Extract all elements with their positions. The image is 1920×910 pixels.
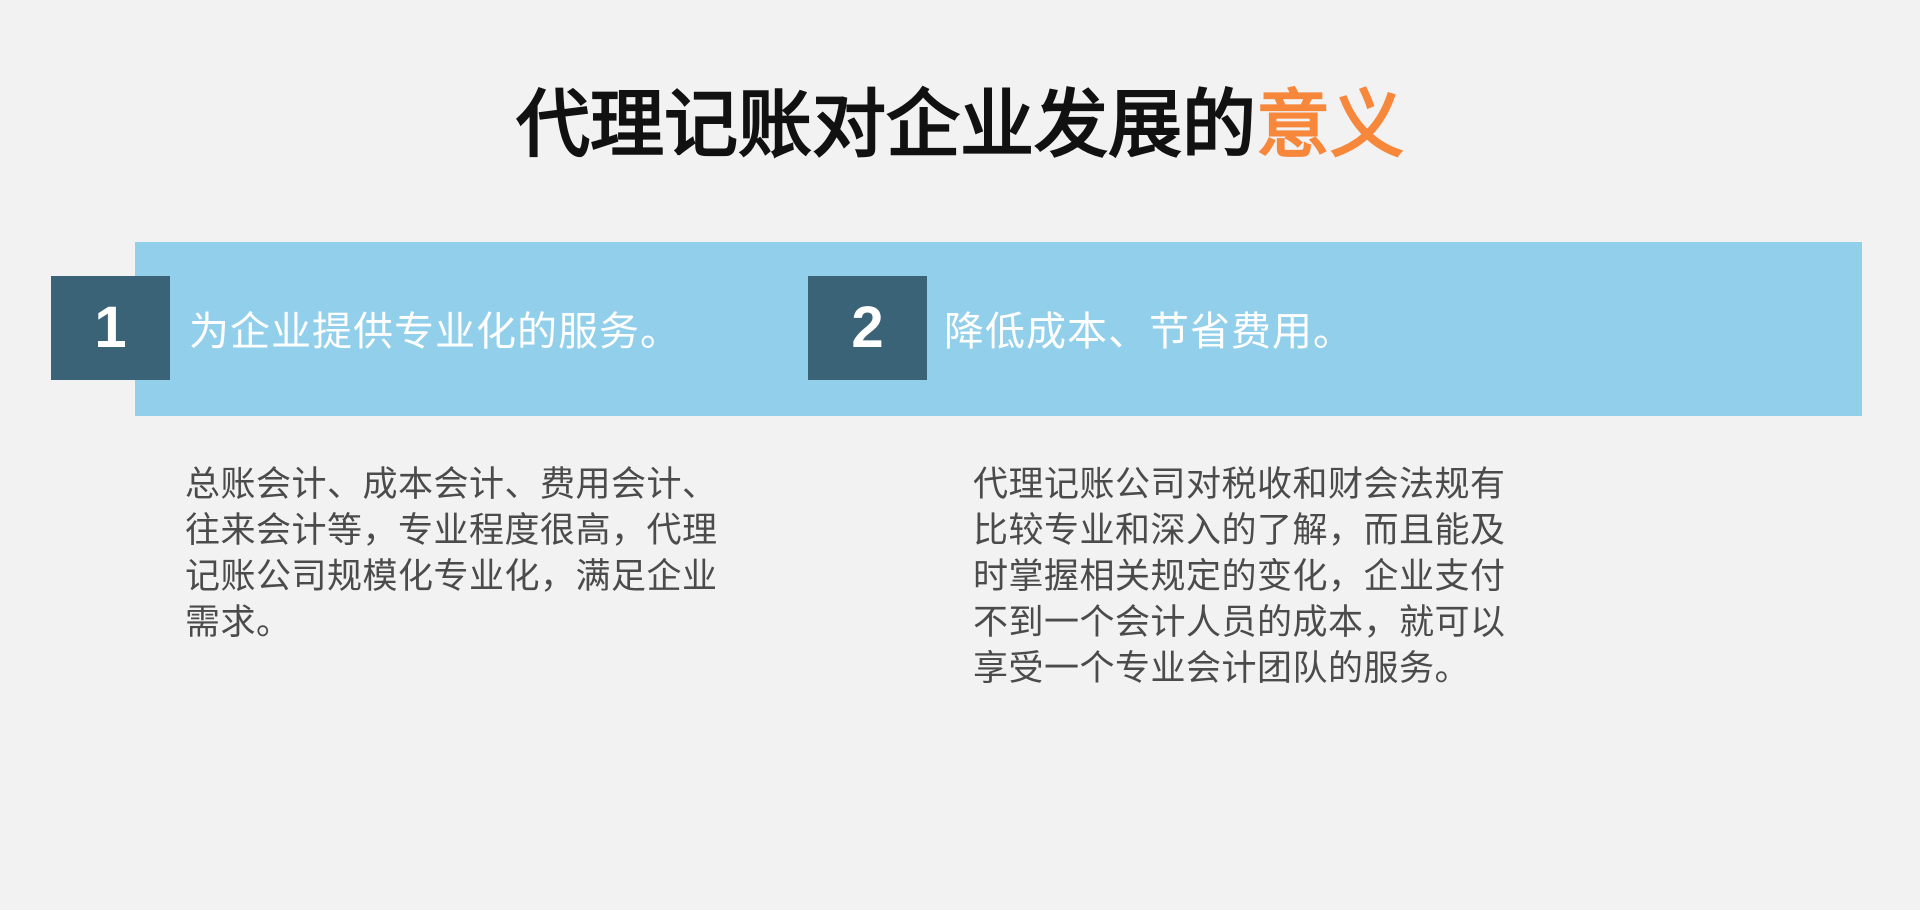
page-title: 代理记账对企业发展的意义 (0, 88, 1920, 162)
card-1-body-line: 记账公司规模化专业化，满足企业 (185, 554, 825, 600)
card-2-body-line: 不到一个会计人员的成本，就可以 (973, 600, 1633, 646)
page-title-accent: 意义 (1256, 83, 1404, 166)
card-2-body-line: 时掌握相关规定的变化，企业支付 (973, 554, 1633, 600)
page-title-main: 代理记账对企业发展的 (516, 83, 1256, 166)
card-2-headline: 降低成本、节省费用。 (944, 276, 1354, 380)
card-2-body-text: 代理记账公司对税收和财会法规有 比较专业和深入的了解，而且能及 时掌握相关规定的… (973, 462, 1633, 692)
card-1-headline: 为企业提供专业化的服务。 (189, 276, 681, 380)
card-1-body-text: 总账会计、成本会计、费用会计、 往来会计等，专业程度很高，代理 记账公司规模化专… (185, 462, 825, 646)
card-1-number-badge: 1 (51, 276, 170, 380)
card-1-body-line: 需求。 (185, 600, 825, 646)
card-1-body-line: 往来会计等，专业程度很高，代理 (185, 508, 825, 554)
card-2-body-line: 比较专业和深入的了解，而且能及 (973, 508, 1633, 554)
card-2-body-line: 享受一个专业会计团队的服务。 (973, 646, 1633, 692)
card-1-body-line: 总账会计、成本会计、费用会计、 (185, 462, 825, 508)
slide-canvas: 代理记账对企业发展的意义 1 为企业提供专业化的服务。 2 降低成本、节省费用。… (0, 0, 1920, 910)
card-2-body-line: 代理记账公司对税收和财会法规有 (973, 462, 1633, 508)
card-2-number-badge: 2 (808, 276, 927, 380)
